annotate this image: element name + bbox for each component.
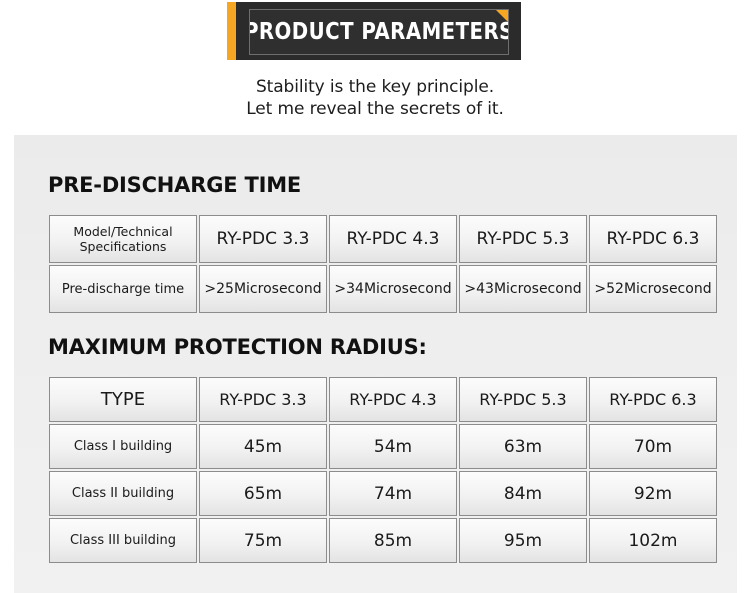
- table-header-row: Model/Technical Specifications RY-PDC 3.…: [49, 215, 717, 263]
- cell-value: 84m: [459, 471, 587, 516]
- subtitle-line-1: Stability is the key principle.: [0, 76, 750, 98]
- cell-value: 54m: [329, 424, 457, 469]
- cell-value: 65m: [199, 471, 327, 516]
- table-header-cell-model-3: RY-PDC 5.3: [459, 377, 587, 422]
- cell-value: 75m: [199, 518, 327, 563]
- cell-value: 70m: [589, 424, 717, 469]
- table-row: Class II building 65m 74m 84m 92m: [49, 471, 717, 516]
- cell-value: 85m: [329, 518, 457, 563]
- row-label-pre-discharge-time: Pre-discharge time: [49, 265, 197, 313]
- maximum-protection-radius-table: TYPE RY-PDC 3.3 RY-PDC 4.3 RY-PDC 5.3 RY…: [47, 375, 719, 565]
- cell-value: 74m: [329, 471, 457, 516]
- header-label-line-1: Model/Technical: [51, 224, 195, 239]
- table-header-cell-type: TYPE: [49, 377, 197, 422]
- cell-value: >34Microsecond: [329, 265, 457, 313]
- subtitle-line-2: Let me reveal the secrets of it.: [0, 98, 750, 120]
- row-label-class-i: Class I building: [49, 424, 197, 469]
- cell-value: >43Microsecond: [459, 265, 587, 313]
- banner-inner-frame: PRODUCT PARAMETERS: [249, 9, 509, 55]
- content-panel: PRE-DISCHARGE TIME Model/Technical Speci…: [14, 135, 737, 593]
- table-header-cell-model-2: RY-PDC 4.3: [329, 377, 457, 422]
- cell-value: >52Microsecond: [589, 265, 717, 313]
- section-title-maximum-protection-radius: MAXIMUM PROTECTION RADIUS:: [48, 335, 427, 359]
- table-header-cell-model-4: RY-PDC 6.3: [589, 215, 717, 263]
- table-header-cell-spec: Model/Technical Specifications: [49, 215, 197, 263]
- table-header-cell-model-4: RY-PDC 6.3: [589, 377, 717, 422]
- cell-value: 45m: [199, 424, 327, 469]
- section-title-pre-discharge-time: PRE-DISCHARGE TIME: [48, 173, 301, 197]
- cell-value: 95m: [459, 518, 587, 563]
- table-header-cell-model-2: RY-PDC 4.3: [329, 215, 457, 263]
- table-header-cell-model-3: RY-PDC 5.3: [459, 215, 587, 263]
- table-row: Pre-discharge time >25Microsecond >34Mic…: [49, 265, 717, 313]
- row-label-class-ii: Class II building: [49, 471, 197, 516]
- cell-value: 63m: [459, 424, 587, 469]
- table-row: Class I building 45m 54m 63m 70m: [49, 424, 717, 469]
- pre-discharge-time-table: Model/Technical Specifications RY-PDC 3.…: [47, 213, 719, 315]
- cell-value: 102m: [589, 518, 717, 563]
- header-label-line-2: Specifications: [51, 239, 195, 254]
- table-header-cell-model-1: RY-PDC 3.3: [199, 215, 327, 263]
- row-label-class-iii: Class III building: [49, 518, 197, 563]
- subtitle: Stability is the key principle. Let me r…: [0, 62, 750, 120]
- page-title: PRODUCT PARAMETERS: [249, 19, 509, 45]
- cell-value: >25Microsecond: [199, 265, 327, 313]
- product-parameters-banner: PRODUCT PARAMETERS: [227, 2, 521, 60]
- table-header-row: TYPE RY-PDC 3.3 RY-PDC 4.3 RY-PDC 5.3 RY…: [49, 377, 717, 422]
- banner-accent-bar: [227, 2, 236, 60]
- header-banner-area: PRODUCT PARAMETERS: [0, 0, 750, 62]
- table-header-cell-model-1: RY-PDC 3.3: [199, 377, 327, 422]
- table-row: Class III building 75m 85m 95m 102m: [49, 518, 717, 563]
- cell-value: 92m: [589, 471, 717, 516]
